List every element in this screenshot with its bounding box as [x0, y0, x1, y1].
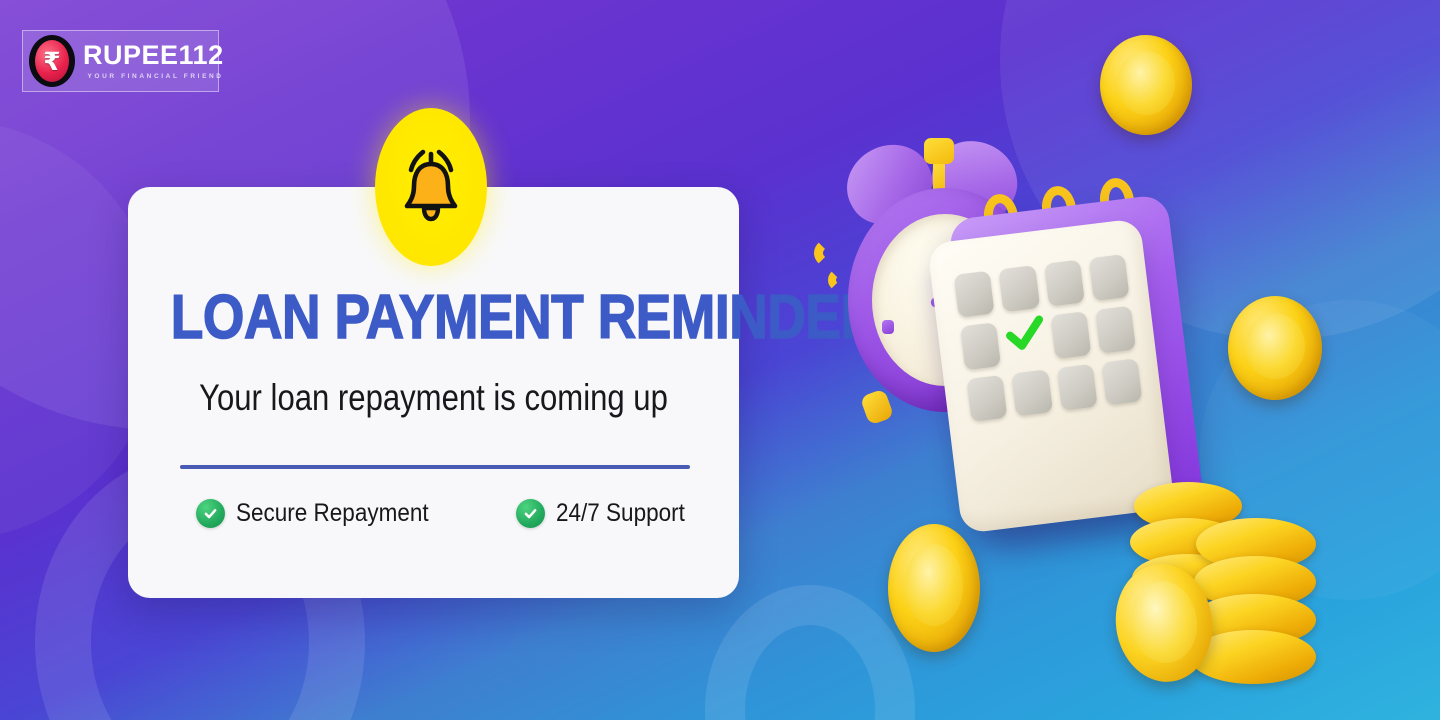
- calendar-day: [999, 265, 1040, 312]
- feature-label: 24/7 Support: [556, 499, 685, 528]
- calendar-day: [954, 271, 995, 318]
- rupee-symbol: ₹: [35, 40, 69, 82]
- check-circle-icon: [196, 499, 225, 528]
- brand-tagline: YOUR FINANCIAL FRIEND: [83, 73, 224, 80]
- sound-wave-arc: [814, 238, 848, 268]
- check-circle-icon: [516, 499, 545, 528]
- rupee-coin-icon: ₹: [29, 35, 75, 87]
- calendar-day: [1101, 358, 1142, 405]
- brand-logo[interactable]: ₹ RUPEE112 YOUR FINANCIAL FRIEND: [22, 30, 219, 92]
- brand-name: RUPEE112: [83, 42, 224, 69]
- green-check-icon: [1005, 317, 1046, 364]
- calendar-grid: [954, 254, 1143, 422]
- gold-coin-stack-icon: [1130, 470, 1330, 690]
- clock-knob: [924, 138, 954, 164]
- calendar-day: [966, 374, 1007, 421]
- calendar-day: [1095, 306, 1136, 353]
- gold-coin-icon: [1228, 296, 1322, 400]
- loan-reminder-banner: ₹ RUPEE112 YOUR FINANCIAL FRIEND LOAN PA…: [0, 0, 1440, 720]
- calendar-day: [1088, 254, 1129, 301]
- bell-icon: [394, 148, 468, 226]
- illustration-group: [760, 0, 1440, 720]
- list-item: 24/7 Support: [516, 499, 699, 528]
- gold-coin-icon: [888, 524, 980, 652]
- feature-label: Secure Repayment: [236, 499, 429, 528]
- divider: [180, 465, 690, 469]
- clock-leg-left: [860, 388, 895, 425]
- calendar-day: [1043, 260, 1084, 307]
- calendar-day: [1011, 369, 1052, 416]
- calendar-day: [1056, 363, 1097, 410]
- list-item: Secure Repayment: [196, 499, 450, 528]
- notification-badge: [375, 108, 487, 266]
- brand-logo-text: RUPEE112 YOUR FINANCIAL FRIEND: [83, 42, 224, 80]
- feature-list: Secure Repayment 24/7 Support: [128, 499, 739, 528]
- calendar-day: [960, 323, 1001, 370]
- clock-tick: [882, 320, 894, 334]
- calendar-day: [1050, 312, 1091, 359]
- gold-coin-icon: [1100, 35, 1192, 135]
- page-title: LOAN PAYMENT REMINDER: [171, 287, 696, 349]
- page-subtitle: Your loan repayment is coming up: [177, 379, 690, 416]
